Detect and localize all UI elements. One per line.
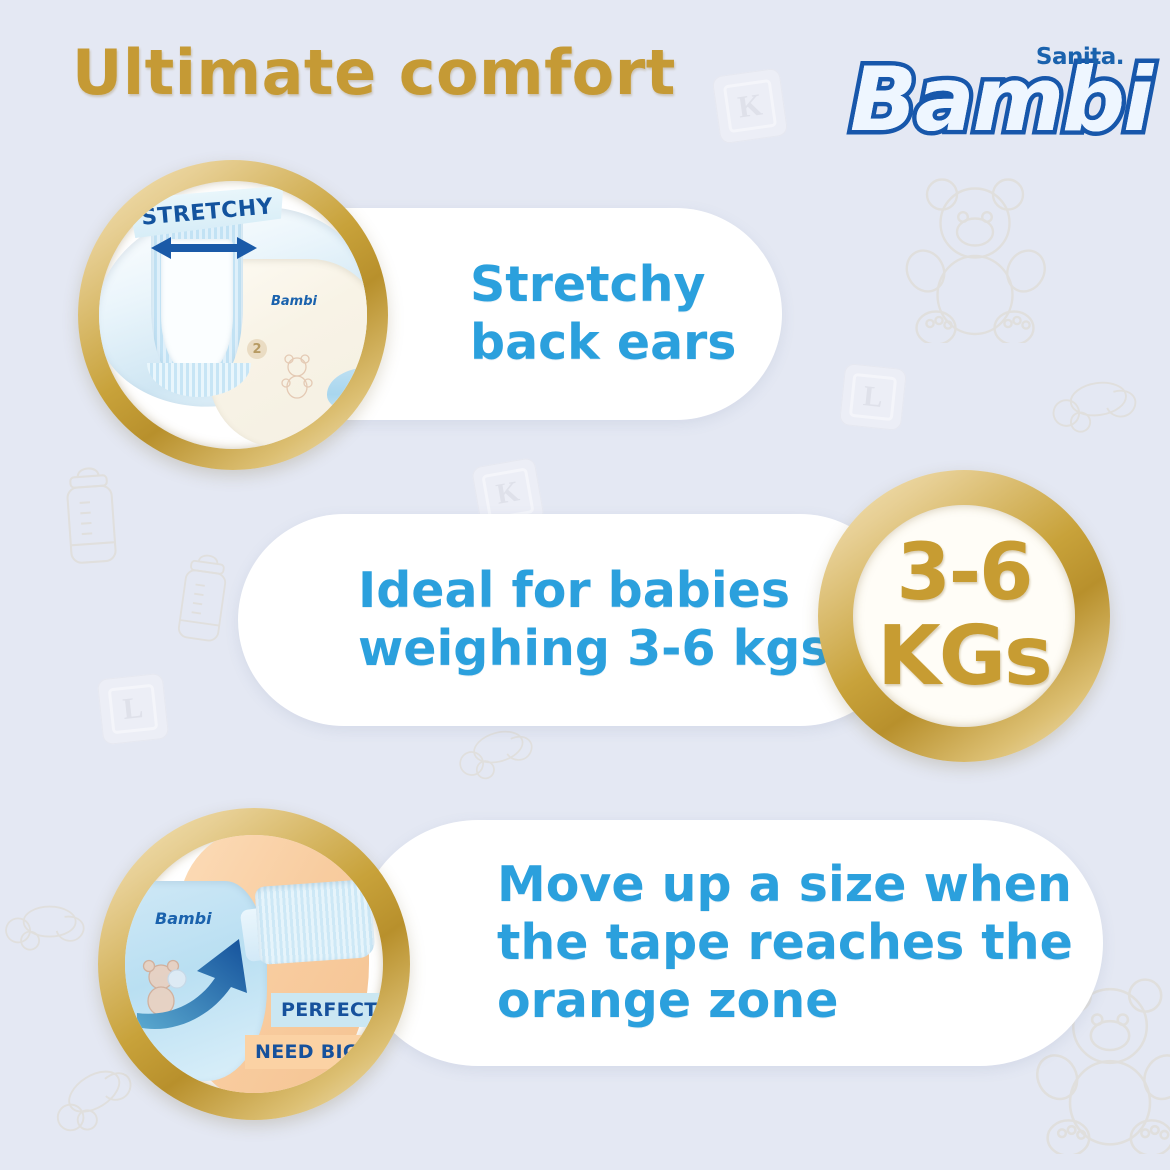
brand-logo: Sanita. Bambi Bambi — [850, 38, 1142, 156]
teddy-bear-icon — [900, 178, 1050, 343]
feature-line-1: Ideal for babies — [358, 562, 829, 620]
feature-line-2: weighing 3-6 kgs — [358, 620, 829, 678]
feature-line-2: back ears — [470, 314, 736, 372]
diaper-mini-logo: Bambi — [155, 909, 212, 928]
feature-pill-weight: Ideal for babies weighing 3-6 kgs — [238, 514, 906, 726]
stretch-double-arrow-icon — [151, 235, 257, 261]
pacifier-icon — [1038, 355, 1149, 451]
page-title: Ultimate comfort — [72, 42, 676, 104]
feature-line-1: Move up a size when — [497, 856, 1073, 914]
weight-badge: 3-6 KGs — [818, 470, 1110, 762]
weight-badge-unit: KGs — [877, 616, 1051, 698]
feature-line-3: orange zone — [497, 972, 1073, 1030]
infographic-canvas: KLKL Ultimate comfort Sanita. Bambi Bamb… — [0, 0, 1170, 1170]
alphabet-block-l-icon: L — [97, 673, 170, 746]
label-perfect-fit: PERFECT FIT — [271, 993, 383, 1027]
feature-pill-size-up: Move up a size when the tape reaches the… — [355, 820, 1103, 1066]
baby-bottle-icon — [48, 455, 134, 577]
weight-badge-face: 3-6 KGs — [853, 505, 1075, 727]
feature-line-2: the tape reaches the — [497, 914, 1073, 972]
feature-text-size-up: Move up a size when the tape reaches the… — [497, 856, 1073, 1029]
feature-photo-circle-stretchy: Bambi 2 — [78, 160, 388, 470]
photo-size-up: Bambi — [125, 835, 383, 1093]
feature-text-stretchy: Stretchy back ears — [470, 256, 736, 372]
alphabet-block-l-icon: L — [839, 363, 907, 431]
alphabet-block-k-icon: K — [712, 68, 789, 145]
feature-line-1: Stretchy — [470, 256, 736, 314]
alphabet-block-letter: L — [107, 683, 159, 735]
photo-stretchy: Bambi 2 — [99, 181, 367, 449]
pacifier-icon — [0, 876, 100, 975]
diaper-mini-logo: Bambi — [271, 294, 317, 309]
weight-badge-range: 3-6 — [897, 534, 1032, 612]
alphabet-block-letter: L — [849, 373, 898, 422]
diaper-size-number: 2 — [247, 339, 267, 359]
label-need-bigger-size: NEED BIGGER SIZE — [245, 1035, 383, 1069]
feature-photo-circle-size-up: Bambi — [98, 808, 410, 1120]
diaper-print-teddy-icon — [277, 353, 317, 401]
brand-parent-label: Sanita. — [1036, 44, 1124, 70]
baby-bottle-icon — [161, 542, 245, 656]
alphabet-block-letter: K — [723, 79, 777, 133]
feature-text-weight: Ideal for babies weighing 3-6 kgs — [358, 562, 829, 678]
alphabet-block-letter: K — [482, 468, 535, 521]
diaper-blue-waistband — [327, 367, 367, 417]
